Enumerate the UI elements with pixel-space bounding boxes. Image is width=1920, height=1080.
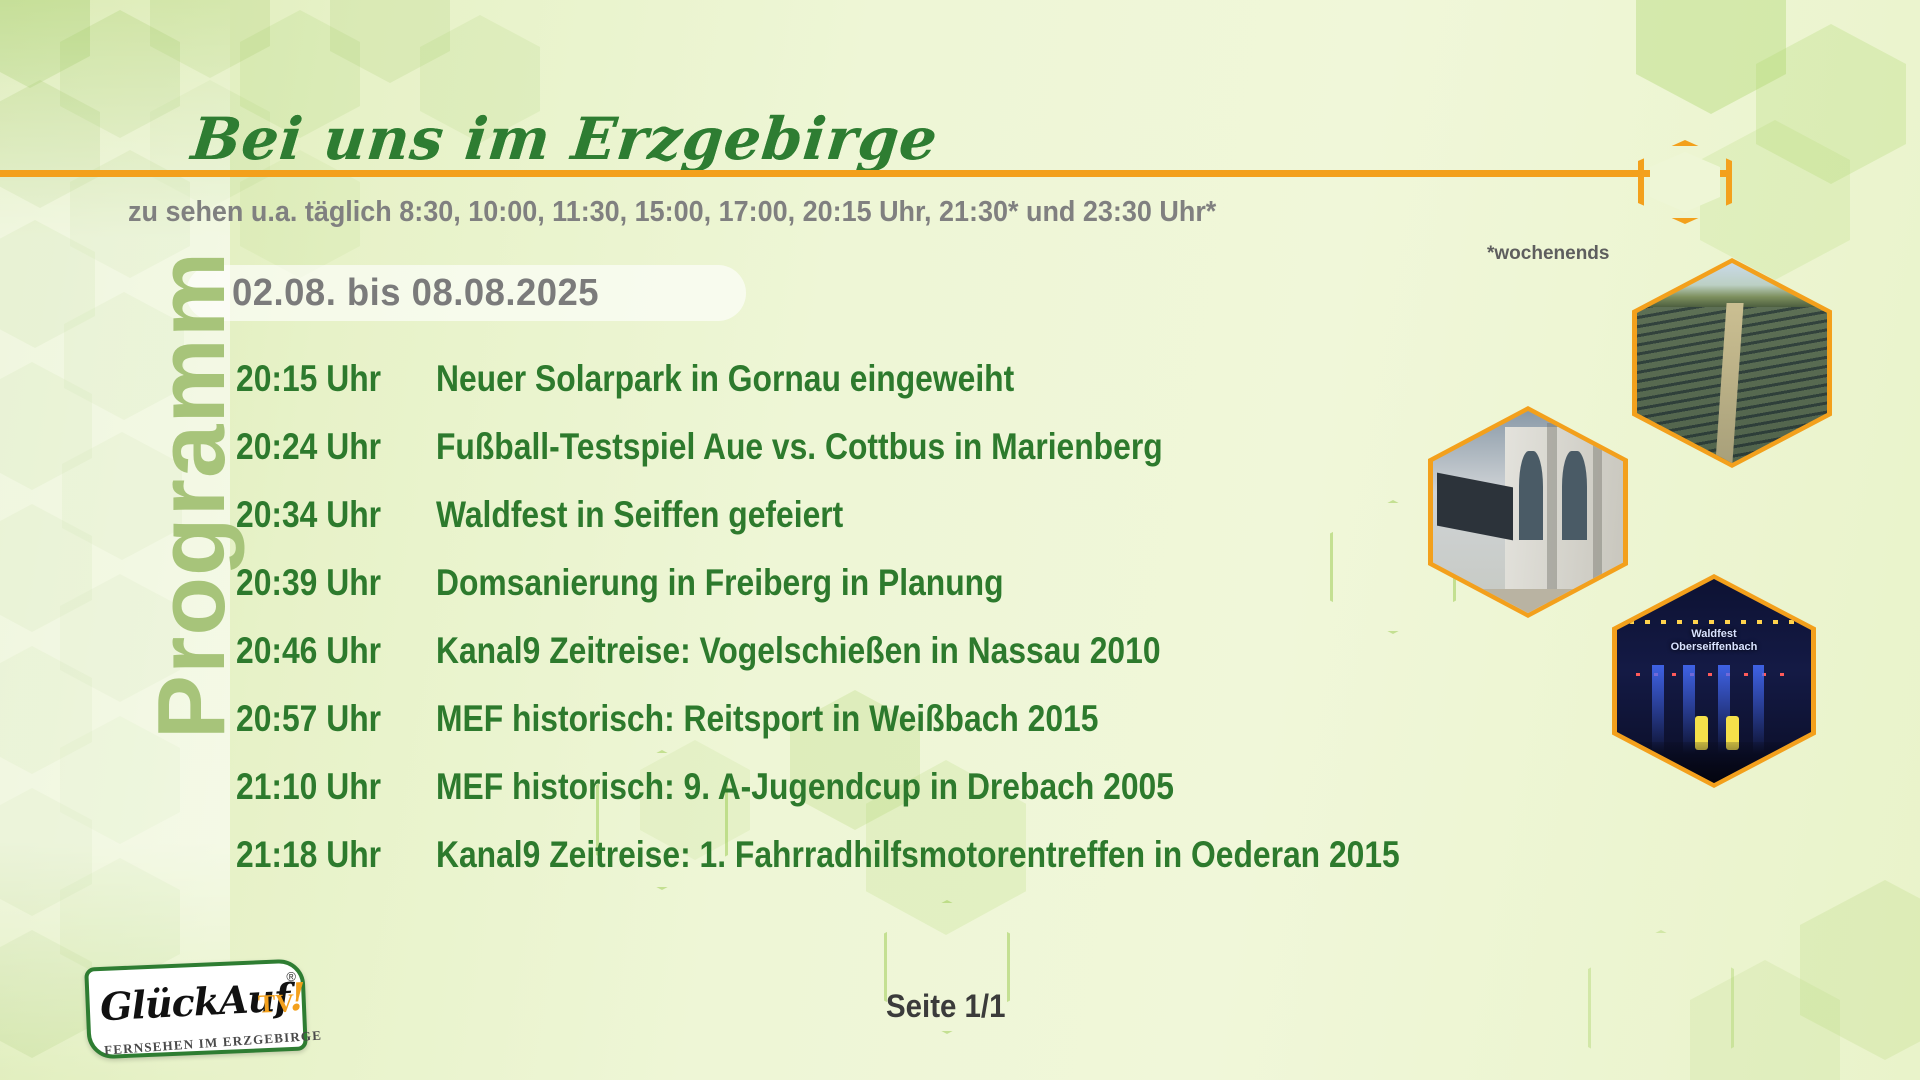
logo-tv: TV bbox=[257, 988, 294, 1019]
program-board: Bei uns im Erzgebirge zu sehen u.a. tägl… bbox=[0, 0, 1920, 1080]
schedule-title: MEF historisch: 9. A-Jugendcup in Drebac… bbox=[436, 766, 1174, 808]
schedule-row: 20:15 Uhr Neuer Solarpark in Gornau eing… bbox=[236, 358, 1796, 426]
page-indicator: Seite 1/1 bbox=[886, 988, 1005, 1025]
schedule-row: 21:10 Uhr MEF historisch: 9. A-Jugendcup… bbox=[236, 766, 1796, 834]
schedule-time: 20:46 Uhr bbox=[236, 630, 408, 672]
channel-logo: GlückAuf! TV ® FERNSEHEN IM ERZGEBIRGE bbox=[86, 963, 306, 1055]
schedule-title: Fußball-Testspiel Aue vs. Cottbus in Mar… bbox=[436, 426, 1163, 468]
schedule-time: 20:24 Uhr bbox=[236, 426, 408, 468]
schedule-title: Kanal9 Zeitreise: Vogelschießen in Nassa… bbox=[436, 630, 1161, 672]
schedule-row: 20:57 Uhr MEF historisch: Reitsport in W… bbox=[236, 698, 1796, 766]
logo-registered-mark: ® bbox=[286, 969, 296, 984]
schedule-title: Waldfest in Seiffen gefeiert bbox=[436, 494, 843, 536]
schedule-time: 21:10 Uhr bbox=[236, 766, 408, 808]
schedule-title: Domsanierung in Freiberg in Planung bbox=[436, 562, 1004, 604]
stage-photo-caption-line2: Oberseiffenbach bbox=[1617, 641, 1811, 654]
divider-hexagon-icon bbox=[1638, 140, 1732, 224]
schedule-title: Neuer Solarpark in Gornau eingeweiht bbox=[436, 358, 1014, 400]
schedule-time: 20:39 Uhr bbox=[236, 562, 408, 604]
schedule-row: 21:18 Uhr Kanal9 Zeitreise: 1. Fahrradhi… bbox=[236, 834, 1796, 902]
schedule-row: 20:46 Uhr Kanal9 Zeitreise: Vogelschieße… bbox=[236, 630, 1796, 698]
airtimes-text: zu sehen u.a. täglich 8:30, 10:00, 11:30… bbox=[128, 196, 1216, 229]
schedule-title: Kanal9 Zeitreise: 1. Fahrradhilfsmotoren… bbox=[436, 834, 1400, 876]
weekend-footnote: *wochenends bbox=[1487, 243, 1609, 265]
show-title: Bei uns im Erzgebirge bbox=[188, 105, 941, 173]
stage-photo-caption-line1: Waldfest bbox=[1617, 628, 1811, 641]
schedule-time: 20:15 Uhr bbox=[236, 358, 408, 400]
sidebar-vertical-label: Programm bbox=[137, 251, 247, 739]
date-range-text: 02.08. bis 08.08.2025 bbox=[232, 272, 599, 315]
schedule-title: MEF historisch: Reitsport in Weißbach 20… bbox=[436, 698, 1098, 740]
orange-divider bbox=[0, 170, 1730, 177]
schedule-time: 21:18 Uhr bbox=[236, 834, 408, 876]
schedule-time: 20:34 Uhr bbox=[236, 494, 408, 536]
schedule-time: 20:57 Uhr bbox=[236, 698, 408, 740]
